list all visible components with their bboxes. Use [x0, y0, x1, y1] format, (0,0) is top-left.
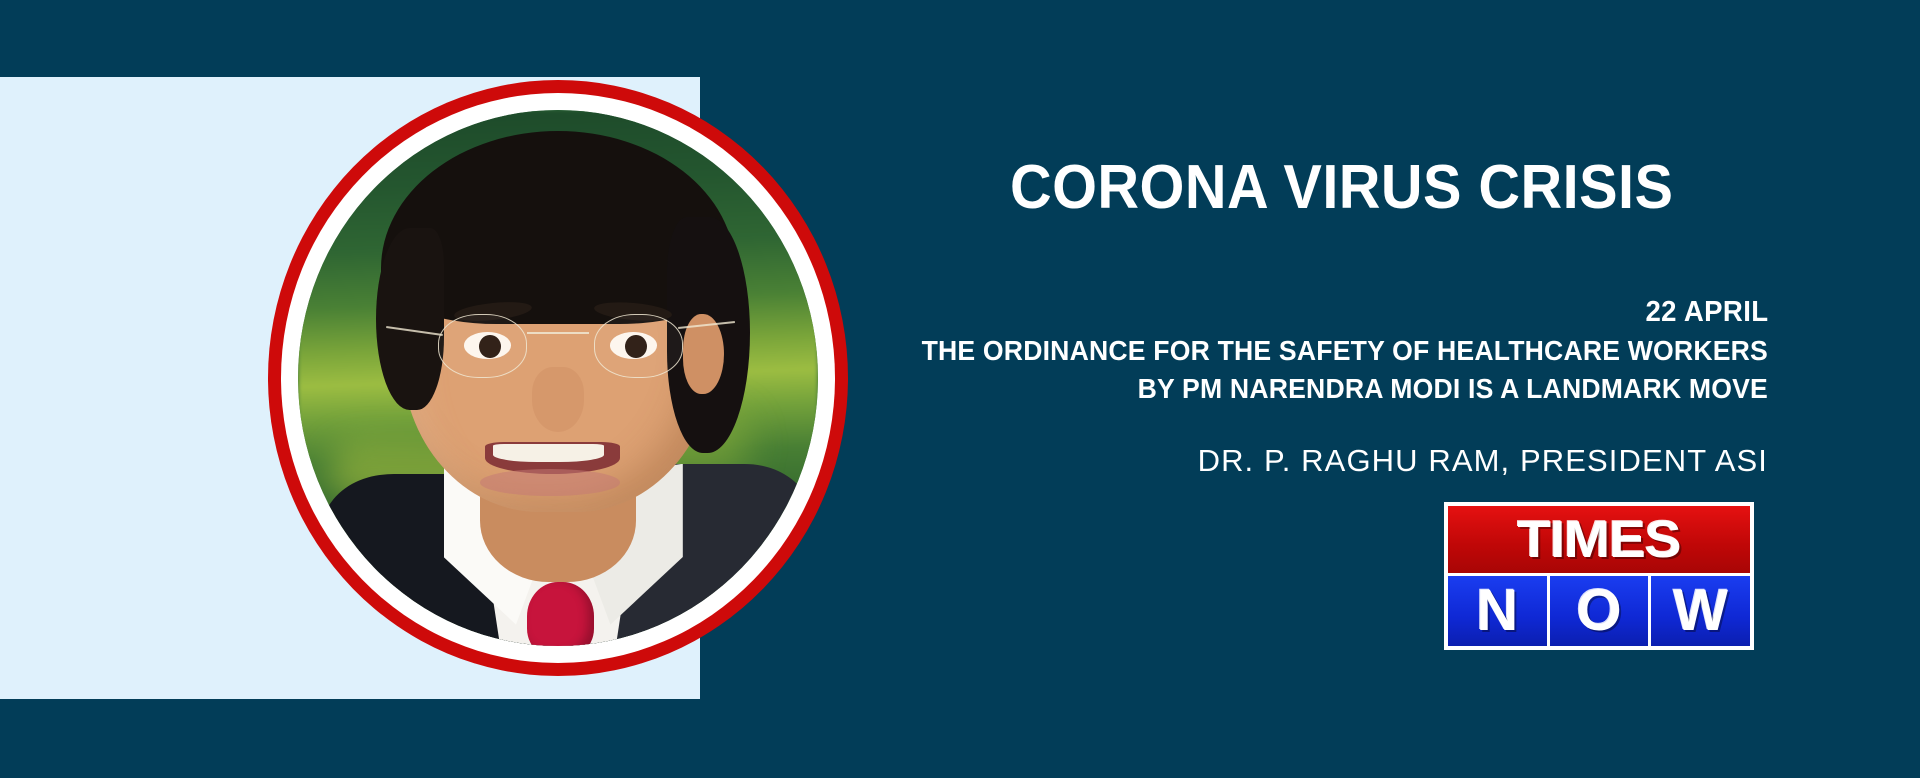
- logo-bottom-blocks: N O W: [1448, 576, 1750, 646]
- logo-letter-n: N: [1448, 576, 1547, 646]
- subheadline-line-1: THE ORDINANCE FOR THE SAFETY OF HEALTHCA…: [818, 332, 1768, 370]
- nose: [532, 367, 584, 431]
- logo-letter-o-text: O: [1576, 582, 1621, 640]
- logo-letter-w-text: W: [1673, 582, 1728, 640]
- teeth: [493, 444, 604, 462]
- logo-letter-o: O: [1550, 576, 1649, 646]
- portrait-photo: [298, 110, 818, 646]
- logo-letter-n-text: N: [1476, 582, 1518, 640]
- hair-side-left: [376, 228, 444, 410]
- red-necktie: [527, 582, 595, 646]
- times-now-logo: TIMES N O W: [1444, 502, 1754, 650]
- headline-title: CORONA VIRUS CRISIS: [1010, 152, 1673, 223]
- logo-times-text: TIMES: [1517, 514, 1680, 566]
- attribution-label: DR. P. RAGHU RAM, PRESIDENT ASI: [1198, 443, 1768, 479]
- portrait-frame: [268, 38, 848, 718]
- subheadline: THE ORDINANCE FOR THE SAFETY OF HEALTHCA…: [818, 332, 1768, 408]
- date-label: 22 APRIL: [1645, 296, 1768, 329]
- news-banner: CORONA VIRUS CRISIS 22 APRIL THE ORDINAN…: [0, 0, 1920, 778]
- logo-top-block: TIMES: [1448, 506, 1750, 573]
- eyeglasses-bridge: [527, 332, 589, 334]
- subheadline-line-2: BY PM NARENDRA MODI IS A LANDMARK MOVE: [818, 370, 1768, 408]
- lower-lip: [480, 469, 620, 496]
- logo-letter-w: W: [1651, 576, 1750, 646]
- eyeglasses-lens-right: [594, 314, 682, 378]
- eyeglasses-lens-left: [438, 314, 526, 378]
